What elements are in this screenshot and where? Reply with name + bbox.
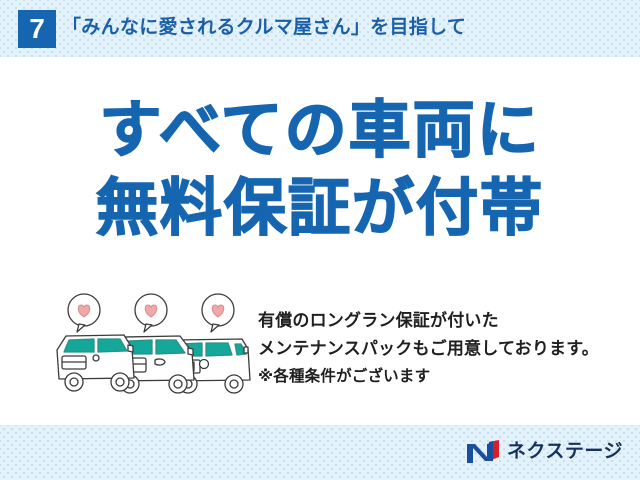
headline-line-1: すべての車両に (0, 92, 640, 170)
body-copy-block: 有償のロングラン保証が付いた メンテナンスパックもご用意しております。 ※各種条… (258, 307, 636, 390)
body-copy-note: ※各種条件がございます (258, 363, 636, 390)
heart-bubble-1 (68, 294, 100, 332)
cars-illustration (52, 292, 258, 398)
headline-block: すべての車両に 無料保証が付帯 (0, 92, 640, 248)
section-number-badge: 7 (18, 10, 56, 48)
footer-band: ネクステージ (0, 425, 640, 480)
warranty-banner: 7 「みんなに愛されるクルマ屋さん」を目指して すべての車両に 無料保証が付帯 (0, 0, 640, 480)
nexstage-n-icon (466, 440, 500, 465)
body-copy-line-1: 有償のロングラン保証が付いた (258, 307, 636, 335)
header-band: 7 「みんなに愛されるクルマ屋さん」を目指して (0, 0, 640, 57)
headline-line-2: 無料保証が付帯 (0, 170, 640, 248)
brand-name: ネクステージ (507, 439, 623, 465)
brand-logo: ネクステージ (466, 439, 623, 465)
heart-bubble-2 (135, 294, 167, 332)
heart-bubble-3 (202, 294, 234, 332)
car-kei-wagon (57, 335, 134, 391)
header-title: 「みんなに愛されるクルマ屋さん」を目指して (62, 13, 466, 43)
body-copy-line-2: メンテナンスパックもご用意しております。 (258, 335, 636, 363)
